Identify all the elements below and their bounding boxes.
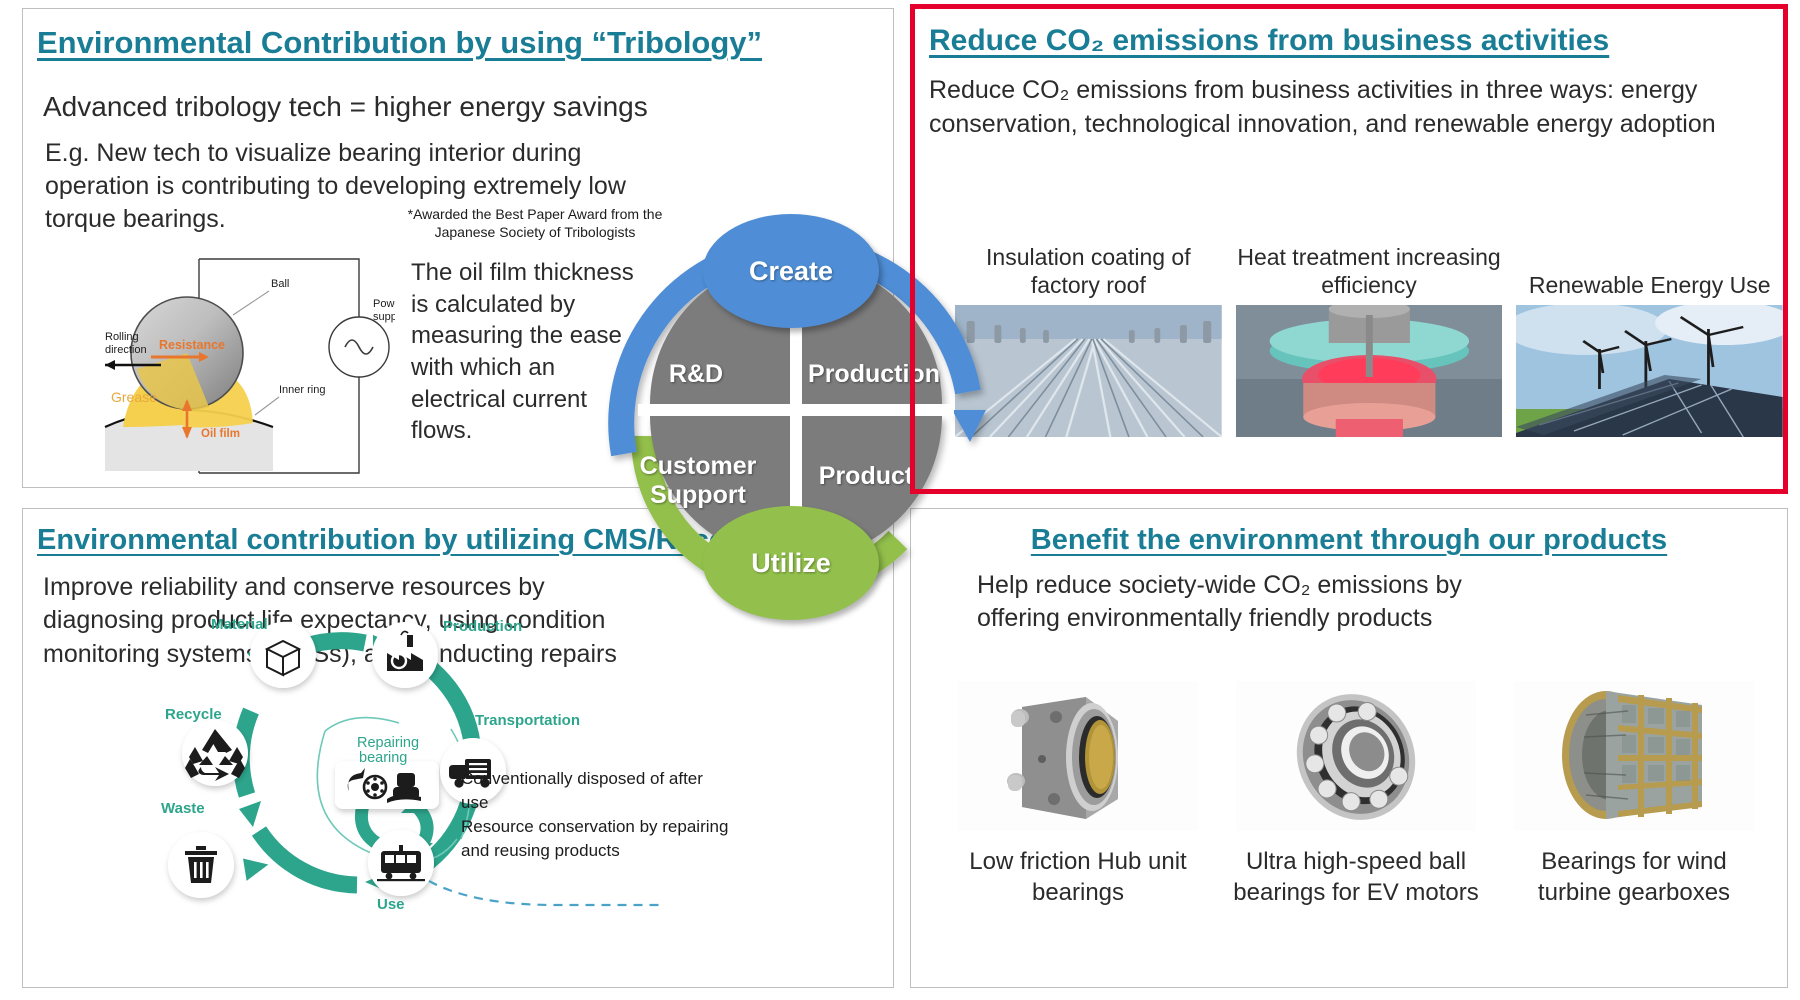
lifecycle-label-waste: Waste [161,800,205,817]
label-rolling-direction: Rolling [105,331,139,343]
card-ball-bearing: Ultra high-speed ball bearings for EV mo… [1229,681,1483,908]
card-hub-unit-bearing: Low friction Hub unit bearings [951,681,1205,908]
label-inner-ring: Inner ring [279,384,325,396]
cms-note-text: Conventionally disposed of after use Res… [461,767,731,864]
lifecycle-inner-label: Repairing [357,735,419,751]
reduce-co2-body: Reduce CO₂ emissions from business activ… [915,58,1783,141]
card-wind-turbine-bearing-caption: Bearings for wind turbine gearboxes [1507,847,1761,908]
cycle-quadrant-product: Product [796,462,936,491]
tribology-lead-text: Advanced tribology tech = higher energy … [23,62,893,125]
cycle-quadrant-rd: R&D [636,360,756,389]
lifecycle-label-transportation: Transportation [475,712,580,729]
cycle-bubble-utilize: Utilize [703,506,879,620]
panel-reduce-co2-title: Reduce CO₂ emissions from business activ… [915,9,1783,58]
lifecycle-label-recycle: Recycle [165,706,222,723]
cycle-quadrant-production: Production [794,360,954,389]
card-insulation-coating: Insulation coating of factory roof [955,243,1222,437]
panel-benefit-title: Benefit the environment through our prod… [911,509,1787,557]
ball-bearing-photo [1229,681,1483,831]
card-hub-unit-bearing-caption: Low friction Hub unit bearings [951,847,1205,908]
slide-canvas: Environmental Contribution by using “Tri… [0,0,1800,1000]
wind-turbine-gearbox-bearing-photo [1507,681,1761,831]
label-resistance: Resistance [159,338,225,352]
hub-unit-bearing-photo [951,681,1205,831]
renewable-energy-photo [1516,305,1783,437]
label-grease: Grease [111,389,157,405]
bearing-oil-film-schematic: Ball Rolling direction Resistance Grease… [83,241,395,487]
cycle-quadrant-customer-support: Customer Support [628,452,768,509]
label-ball: Ball [271,278,289,290]
lifecycle-label-production: Production [443,618,522,635]
label-power-supply: Power [373,298,395,310]
card-wind-turbine-bearing: Bearings for wind turbine gearboxes [1507,681,1761,908]
factory-roof-photo [955,305,1222,437]
lifecycle-label-material: Material [211,616,268,633]
svg-text:bearing: bearing [359,750,407,766]
value-chain-cycle: R&D Production Customer Support Product … [598,196,994,636]
svg-text:supply: supply [373,311,395,323]
card-ball-bearing-caption: Ultra high-speed ball bearings for EV mo… [1229,847,1483,908]
reduce-co2-cards: Insulation coating of factory roof [955,187,1783,437]
card-insulation-coating-caption: Insulation coating of factory roof [955,243,1222,299]
benefit-product-cards: Low friction Hub unit bearings [951,681,1761,908]
card-renewable-energy: Renewable Energy Use [1516,271,1783,437]
panel-benefit-environment: Benefit the environment through our prod… [910,508,1788,988]
lifecycle-label-use: Use [377,896,405,913]
panel-tribology-title: Environmental Contribution by using “Tri… [23,9,893,62]
heat-treatment-photo [1236,305,1503,437]
label-oil-film: Oil film [201,428,240,440]
card-heat-treatment: Heat treatment increasing efficiency [1236,243,1503,437]
panel-reduce-co2: Reduce CO₂ emissions from business activ… [910,4,1788,494]
benefit-body-text: Help reduce society-wide CO₂ emissions b… [911,557,1551,636]
cycle-bubble-create: Create [703,214,879,328]
card-renewable-energy-caption: Renewable Energy Use [1529,271,1771,299]
card-heat-treatment-caption: Heat treatment increasing efficiency [1236,243,1503,299]
svg-text:direction: direction [105,344,147,356]
